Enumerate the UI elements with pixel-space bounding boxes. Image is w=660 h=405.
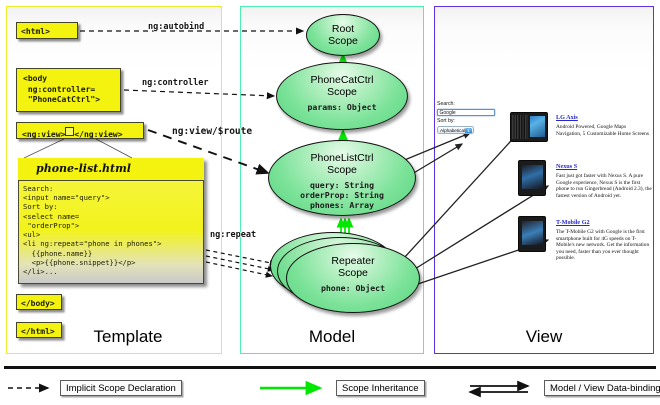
edge-label-ng-autobind: ng:autobind	[148, 22, 204, 32]
phone-thumbnail-3	[518, 216, 546, 252]
scope-phonelistctrl[interactable]: PhoneListCtrl Scope query: String orderP…	[268, 140, 416, 216]
ngview-slot-icon	[65, 127, 74, 136]
legend-label-databinding: Model / View Data-binding	[544, 380, 660, 396]
code-box-body-tag[interactable]: <body ng:controller= "PhoneCatCtrl">	[16, 68, 121, 112]
scope-repeater-props: phone: Object	[287, 283, 419, 293]
scope-repeater-title-line2: Scope	[287, 268, 419, 280]
sort-by-label: Sort by:	[437, 118, 501, 125]
legend-green-arrow-icon	[258, 380, 330, 396]
column-label-view: View	[435, 327, 653, 347]
scope-phonelistctrl-props: query: String orderProp: String phones: …	[269, 180, 415, 211]
scope-phonelistctrl-title-line2: Scope	[269, 165, 415, 177]
phone-thumbnail-1	[510, 112, 548, 142]
edge-label-ng-controller: ng:controller	[142, 78, 209, 88]
diagram-canvas: Template Model View	[0, 0, 660, 405]
scope-root-title-line1: Root	[307, 24, 379, 36]
note-code-body: Search: <input name="query"> Sort by: <s…	[18, 180, 204, 284]
scope-phonecatctrl-title-line2: Scope	[277, 87, 407, 99]
scope-phonelistctrl-title-line1: PhoneListCtrl	[269, 153, 415, 165]
scope-root-title-line2: Scope	[307, 36, 379, 48]
phone-name-3[interactable]: T-Mobile G2	[556, 219, 590, 226]
legend-label-implicit: Implicit Scope Declaration	[60, 380, 182, 396]
legend-item-data-binding: Model / View Data-binding	[466, 380, 538, 398]
legend-double-arrow-icon	[466, 380, 538, 398]
scope-root[interactable]: Root Scope	[306, 14, 380, 56]
code-box-end-html-tag[interactable]: </html>	[16, 322, 62, 338]
legend-divider	[4, 366, 656, 369]
code-box-html-tag[interactable]: <html>	[16, 22, 78, 39]
legend-label-inheritance: Scope Inheritance	[336, 380, 425, 396]
view-search-panel: Search: Google Sort by: Alphabetical⇕	[437, 101, 501, 134]
column-label-model: Model	[241, 327, 423, 347]
code-box-end-body-tag[interactable]: </body>	[16, 294, 62, 310]
phone-thumbnail-2	[518, 160, 546, 196]
scope-phonelistctrl-title: PhoneListCtrl Scope	[269, 153, 415, 177]
sort-by-select[interactable]: Alphabetical⇕	[437, 126, 474, 134]
legend-item-scope-inheritance: Scope Inheritance	[258, 380, 330, 398]
scope-repeater-stack: Repeater Scope phone: Object	[270, 232, 420, 320]
phone-snippet-2: Fast just got faster with Nexus S. A pur…	[556, 173, 652, 199]
scope-root-title: Root Scope	[307, 24, 379, 48]
legend-item-implicit-scope-declaration: Implicit Scope Declaration	[6, 380, 56, 398]
search-label: Search:	[437, 101, 501, 108]
chevron-updown-icon: ⇕	[465, 128, 472, 134]
ngview-close-tag: </ng:view>	[74, 130, 122, 139]
ngview-open-tag: <ng:view>	[22, 130, 65, 139]
legend: Implicit Scope Declaration Scope Inherit…	[0, 378, 660, 402]
edge-label-ng-view-route: ng:view/$route	[172, 126, 252, 137]
phone-name-2[interactable]: Nexus S	[556, 163, 577, 170]
scope-repeater-title: Repeater Scope	[287, 256, 419, 280]
note-title: phone-list.html	[18, 158, 204, 180]
phone-snippet-3: The T-Mobile G2 with Google is the first…	[556, 229, 652, 262]
phone-name-1[interactable]: LG Axis	[556, 114, 578, 121]
code-note-phone-list-html[interactable]: phone-list.html Search: <input name="que…	[18, 158, 204, 284]
legend-dashed-arrow-icon	[6, 380, 56, 396]
code-box-ngview-tag[interactable]: <ng:view></ng:view>	[16, 122, 144, 139]
scope-phonecatctrl[interactable]: PhoneCatCtrl Scope params: Object	[276, 62, 408, 130]
scope-repeater[interactable]: Repeater Scope phone: Object	[286, 243, 420, 313]
scope-phonecatctrl-title: PhoneCatCtrl Scope	[277, 75, 407, 99]
edge-label-ng-repeat: ng:repeat	[210, 230, 256, 240]
scope-repeater-title-line1: Repeater	[287, 256, 419, 268]
sort-by-value: Alphabetical	[440, 128, 465, 133]
scope-phonecatctrl-title-line1: PhoneCatCtrl	[277, 75, 407, 87]
phone-snippet-1: Android Powered, Google Maps Navigation,…	[556, 124, 652, 137]
search-input[interactable]: Google	[437, 109, 495, 117]
scope-phonecatctrl-props: params: Object	[277, 102, 407, 112]
